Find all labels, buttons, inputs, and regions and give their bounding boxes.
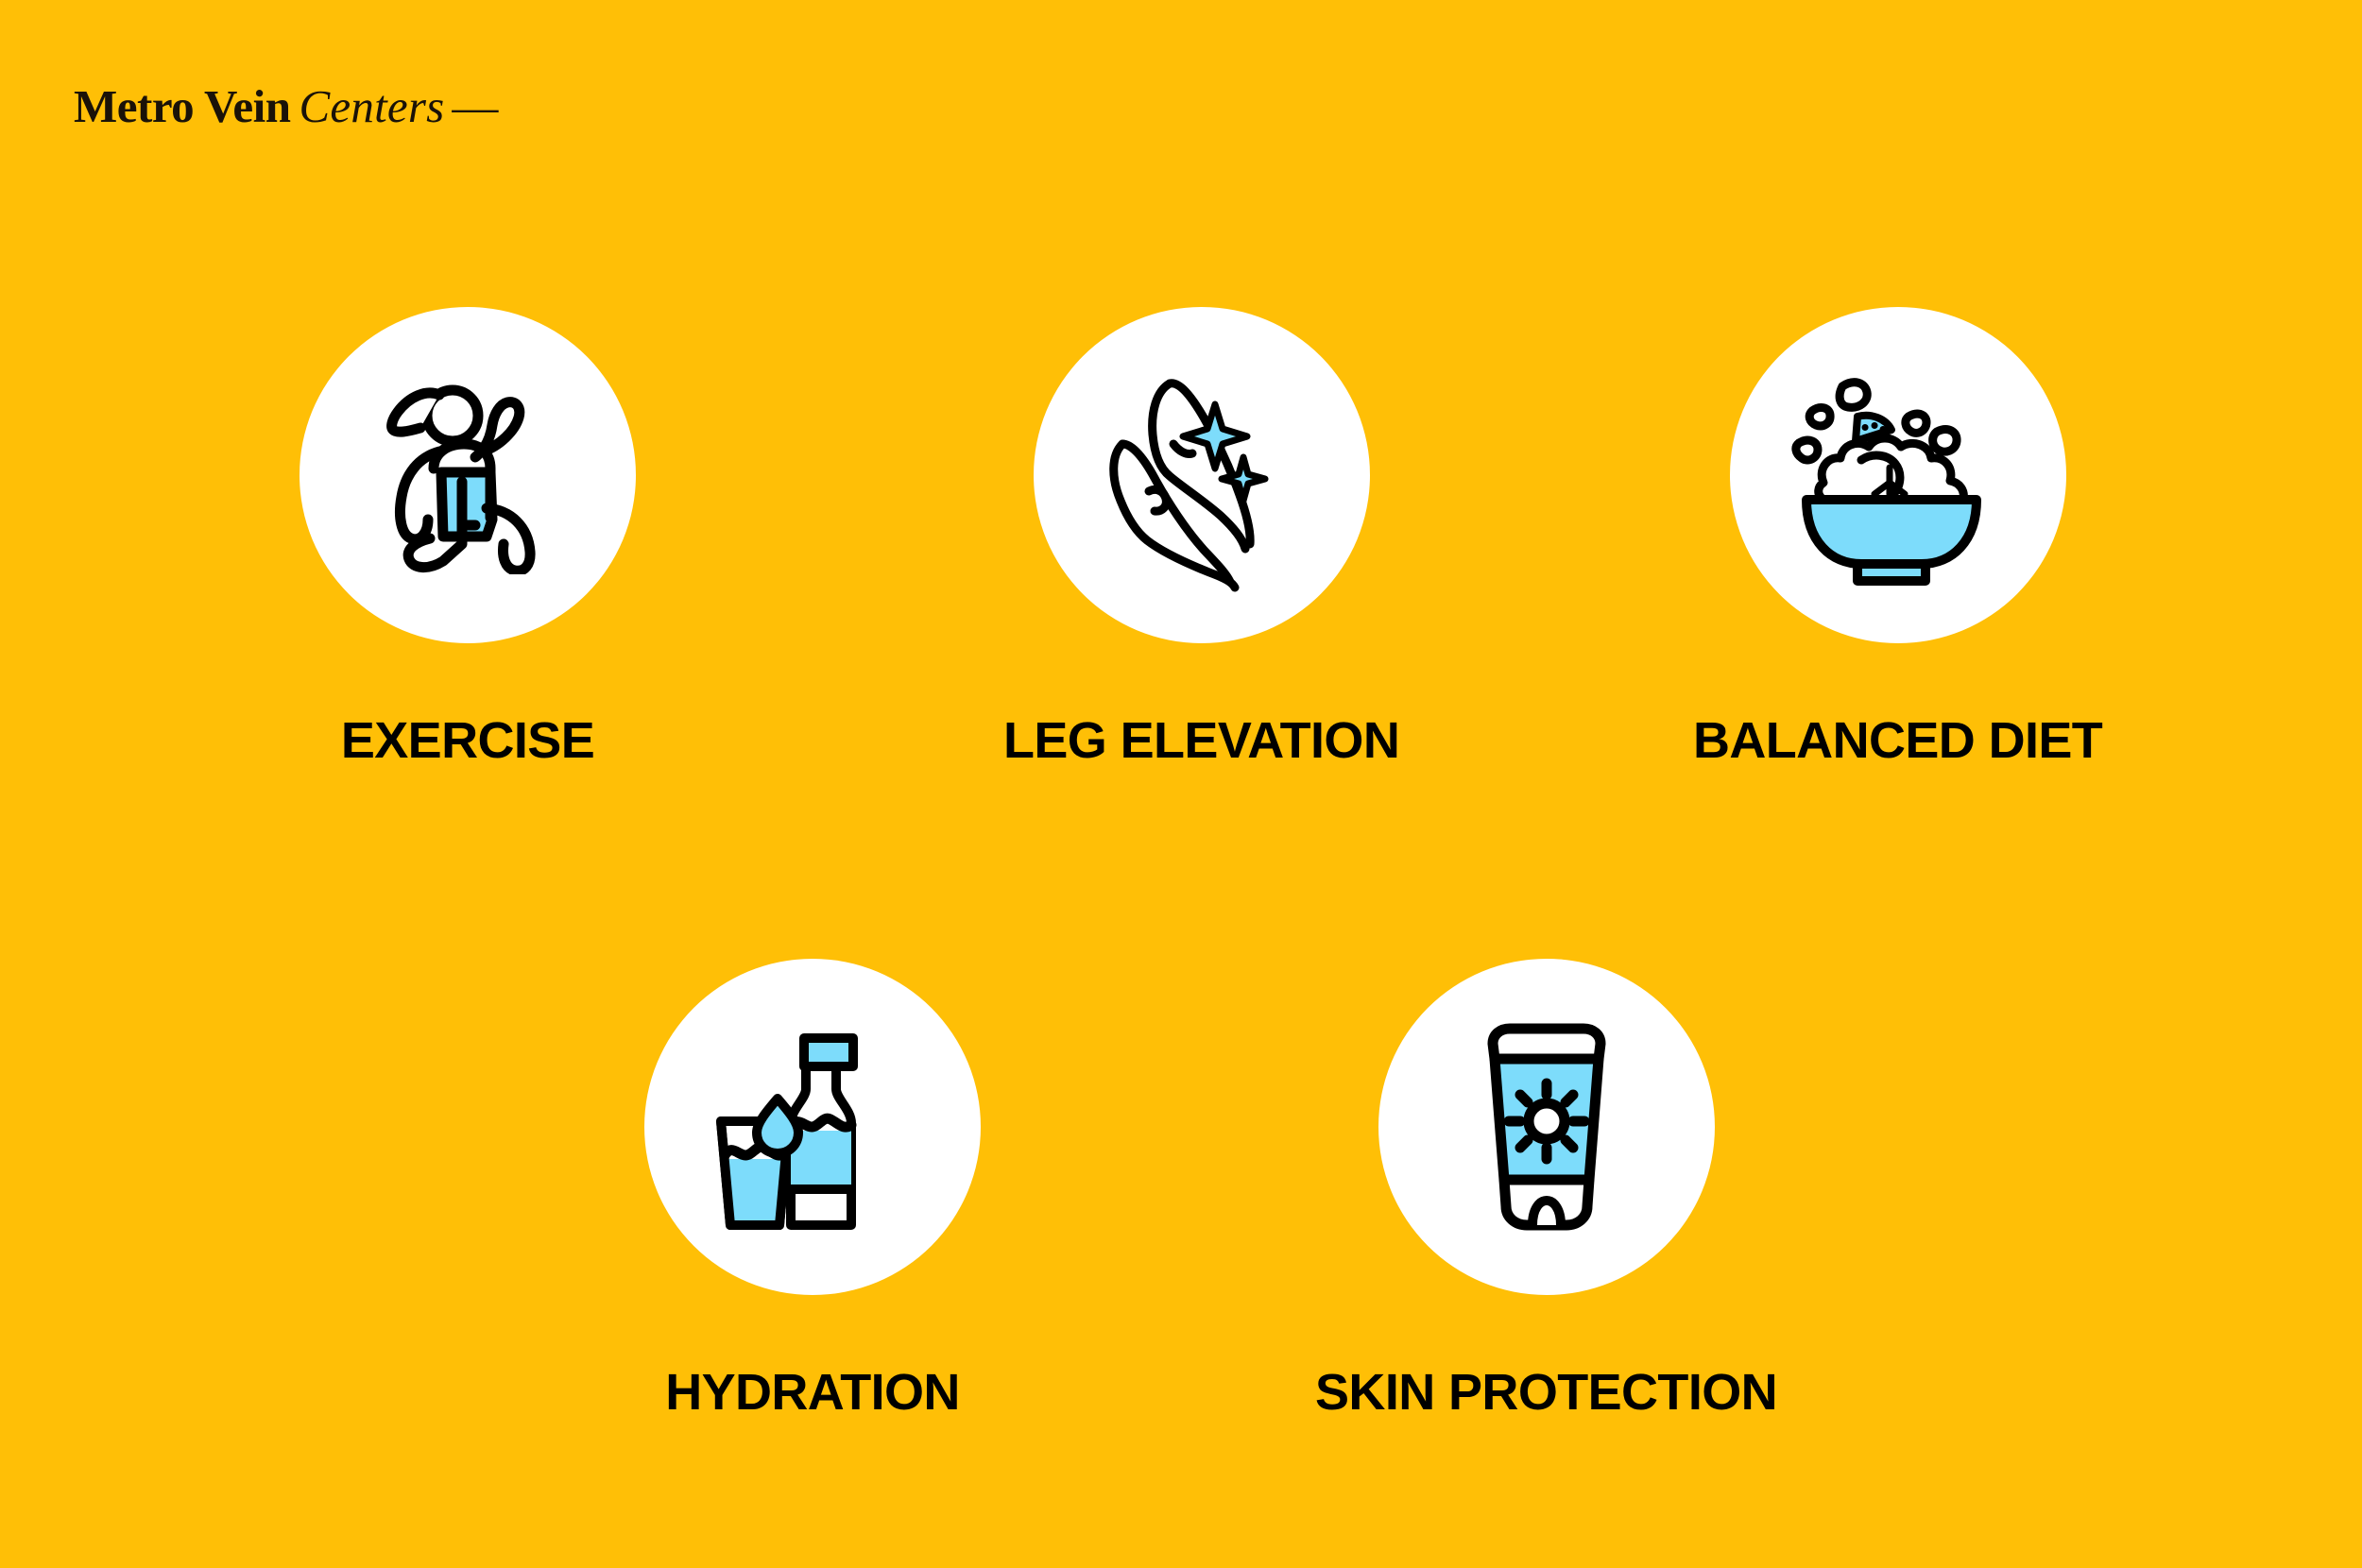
badge-balanced-diet [1730, 307, 2066, 643]
tip-card-leg-elevation[interactable]: LEG ELEVATION [1003, 307, 1399, 766]
salad-bowl-icon [1789, 362, 2007, 588]
tip-card-balanced-diet[interactable]: BALANCED DIET [1693, 307, 2102, 766]
badge-leg-elevation [1034, 307, 1370, 643]
running-person-icon [373, 376, 562, 574]
brand-logo: Metro VeinCenters— [74, 83, 498, 129]
sunscreen-tube-icon [1476, 1023, 1617, 1231]
elevated-legs-sparkle-icon [1088, 357, 1315, 593]
tip-label-exercise: EXERCISE [341, 715, 594, 766]
tip-label-leg-elevation: LEG ELEVATION [1003, 715, 1399, 766]
brand-dash: — [452, 80, 498, 132]
brand-name-secondary: Centers [300, 80, 445, 132]
tip-label-balanced-diet: BALANCED DIET [1693, 715, 2102, 766]
brand-name-primary: Metro Vein [74, 80, 291, 132]
badge-skin-protection [1378, 959, 1715, 1295]
tip-card-exercise[interactable]: EXERCISE [300, 307, 636, 766]
poster-canvas: Metro VeinCenters— [0, 0, 2362, 1568]
badge-exercise [300, 307, 636, 643]
badge-hydration [644, 959, 981, 1295]
tip-label-skin-protection: SKIN PROTECTION [1315, 1367, 1777, 1418]
tip-card-skin-protection[interactable]: SKIN PROTECTION [1315, 959, 1777, 1418]
water-glass-bottle-icon [711, 1021, 915, 1234]
tip-card-hydration[interactable]: HYDRATION [644, 959, 981, 1418]
tip-label-hydration: HYDRATION [665, 1367, 960, 1418]
